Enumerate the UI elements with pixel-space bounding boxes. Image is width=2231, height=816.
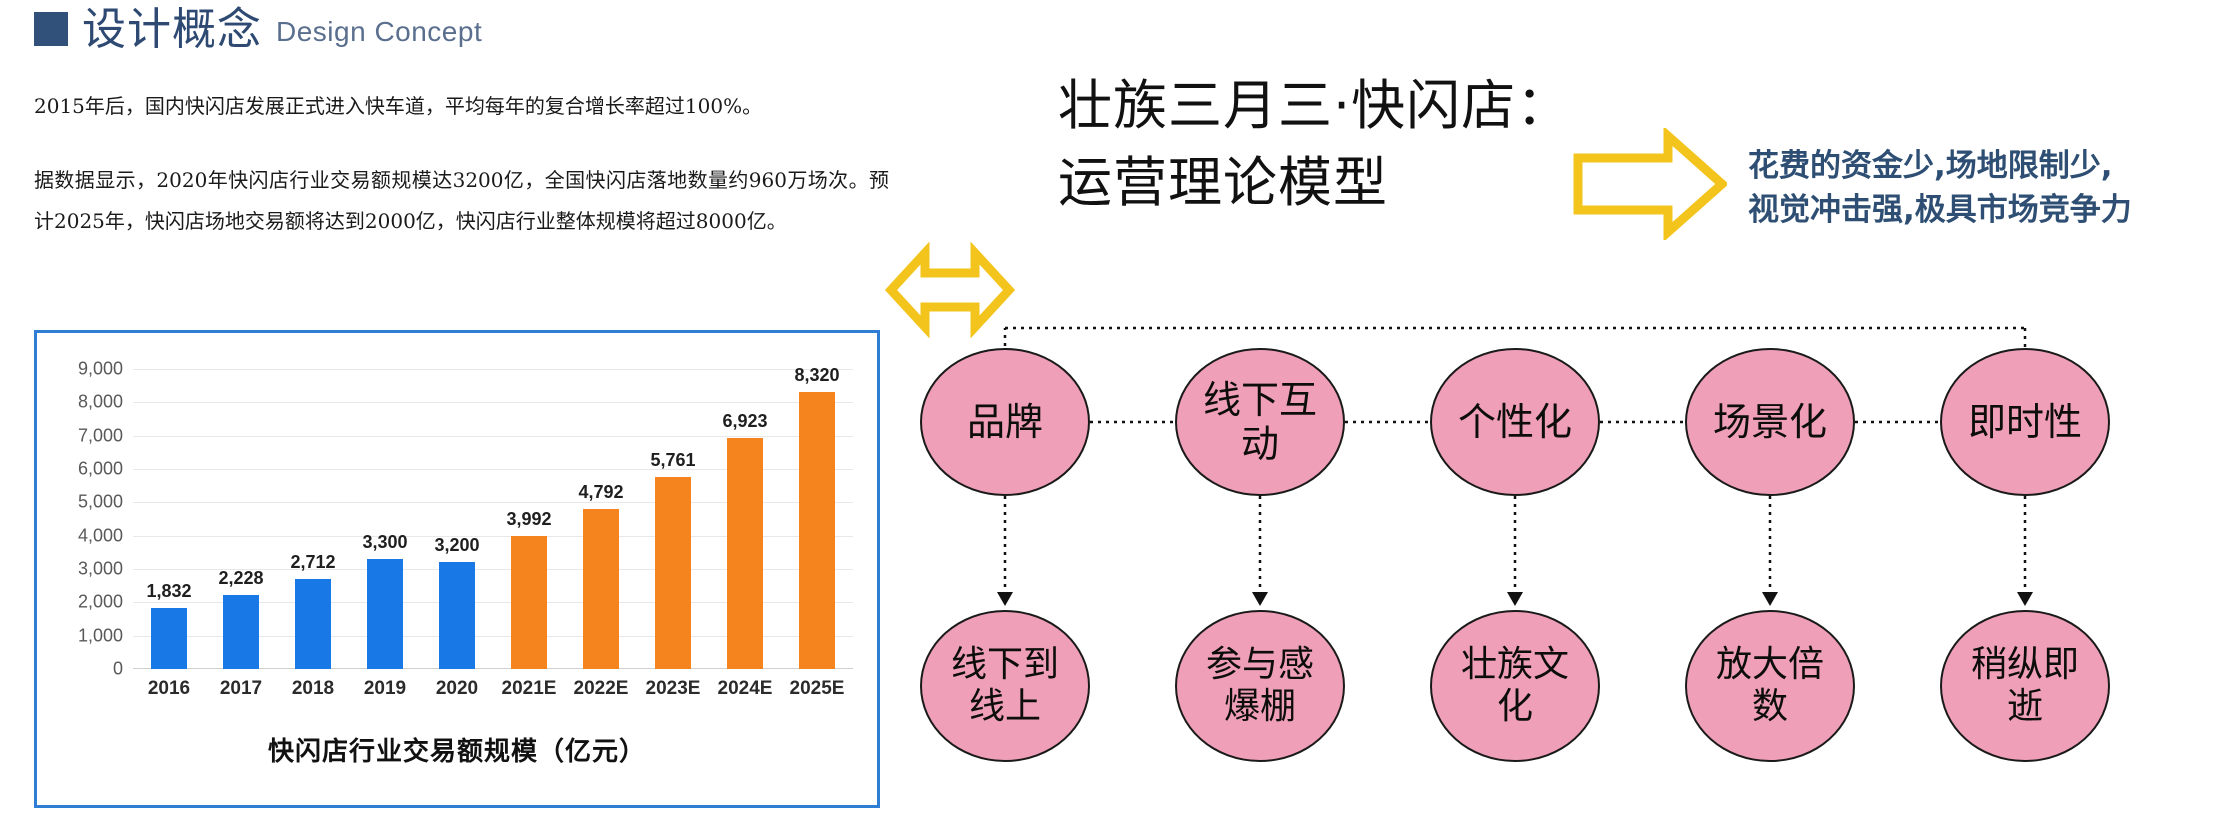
paragraph-two: 据数据显示，2020年快闪店行业交易额规模达3200亿，全国快闪店落地数量约96… — [34, 160, 889, 242]
page-title: 设计概念 — [82, 8, 262, 52]
chart-value-label: 2,712 — [290, 552, 335, 573]
diagram-node-bottom-1[interactable]: 线下到线上 — [920, 610, 1090, 762]
diagram-node-top-3[interactable]: 个性化 — [1430, 348, 1600, 496]
chart-y-tick-label: 5,000 — [78, 492, 123, 513]
chart-bar — [727, 438, 763, 669]
chart-value-label: 1,832 — [146, 581, 191, 602]
chart-value-label: 3,300 — [362, 532, 407, 553]
chart-bar-group: 3,300 — [349, 369, 421, 669]
diagram-node-top-4[interactable]: 场景化 — [1685, 348, 1855, 496]
node-label-line: 爆棚 — [1206, 686, 1314, 728]
node-label-line: 参与感 — [1206, 644, 1314, 686]
chart-y-tick-label: 1,000 — [78, 625, 123, 646]
chart-bar — [799, 392, 835, 669]
node-label: 线下互动 — [1203, 378, 1317, 466]
node-label-line: 即时性 — [1968, 400, 2082, 444]
chart-bar-group: 8,320 — [781, 369, 853, 669]
node-label-line: 逝 — [1971, 686, 2079, 728]
diagram-node-top-2[interactable]: 线下互动 — [1175, 348, 1345, 496]
chart-bar-group: 3,200 — [421, 369, 493, 669]
chart-x-tick-label: 2023E — [637, 678, 709, 700]
page-header: 设计概念 Design Concept — [34, 8, 482, 52]
chart-x-tick-label: 2018 — [277, 678, 349, 700]
chart-bar-group: 2,228 — [205, 369, 277, 669]
node-label-line: 壮族文 — [1461, 644, 1569, 686]
diagram-node-top-5[interactable]: 即时性 — [1940, 348, 2110, 496]
chart-y-tick-label: 7,000 — [78, 425, 123, 446]
benefits-note: 花费的资金少,场地限制少, 视觉冲击强,极具市场竞争力 — [1748, 144, 2132, 232]
arrowhead-icon — [1762, 592, 1778, 606]
node-label: 线下到线上 — [951, 644, 1059, 728]
right-arrow-icon — [1572, 128, 1727, 240]
diagram-node-bottom-3[interactable]: 壮族文化 — [1430, 610, 1600, 762]
operating-model-diagram: 品牌线下互动个性化场景化即时性 线下到线上参与感爆棚壮族文化放大倍数稍纵即逝 — [920, 320, 2231, 816]
diagram-node-top-1[interactable]: 品牌 — [920, 348, 1090, 496]
bar-chart-panel: 01,0002,0003,0004,0005,0006,0007,0008,00… — [34, 330, 880, 808]
arrowhead-icon — [2017, 592, 2033, 606]
chart-value-label: 2,228 — [218, 568, 263, 589]
chart-y-tick-label: 3,000 — [78, 559, 123, 580]
node-label: 参与感爆棚 — [1206, 644, 1314, 728]
chart-bar — [367, 559, 403, 669]
chart-bar-group: 5,761 — [637, 369, 709, 669]
paragraph-one: 2015年后，国内快闪店发展正式进入快车道，平均每年的复合增长率超过100%。 — [34, 86, 924, 127]
arrowhead-icon — [997, 592, 1013, 606]
chart-x-tick-label: 2016 — [133, 678, 205, 700]
chart-plot-area: 01,0002,0003,0004,0005,0006,0007,0008,00… — [133, 369, 853, 669]
chart-y-tick-label: 2,000 — [78, 592, 123, 613]
chart-value-label: 3,992 — [506, 509, 551, 530]
chart-y-tick-label: 6,000 — [78, 459, 123, 480]
node-label-line: 线下到 — [951, 644, 1059, 686]
model-heading: 壮族三月三·快闪店： 运营理论模型 — [1058, 68, 1571, 221]
node-label-line: 数 — [1716, 686, 1824, 728]
chart-title: 快闪店行业交易额规模（亿元） — [37, 731, 877, 768]
diagram-node-bottom-4[interactable]: 放大倍数 — [1685, 610, 1855, 762]
chart-x-tick-labels: 201620172018201920202021E2022E2023E2024E… — [133, 678, 853, 700]
chart-value-label: 8,320 — [794, 365, 839, 386]
node-label: 放大倍数 — [1716, 644, 1824, 728]
chart-value-label: 4,792 — [578, 482, 623, 503]
chart-x-tick-label: 2020 — [421, 678, 493, 700]
chart-x-tick-label: 2022E — [565, 678, 637, 700]
chart-x-tick-label: 2025E — [781, 678, 853, 700]
chart-bar-group: 6,923 — [709, 369, 781, 669]
chart-bar — [583, 509, 619, 669]
node-label-line: 线下互 — [1203, 378, 1317, 422]
square-marker-icon — [34, 12, 68, 46]
arrowhead-icon — [1507, 592, 1523, 606]
chart-bar — [655, 477, 691, 669]
diagram-node-bottom-5[interactable]: 稍纵即逝 — [1940, 610, 2110, 762]
arrowhead-icon — [1252, 592, 1268, 606]
node-label: 品牌 — [967, 400, 1043, 444]
chart-y-tick-label: 8,000 — [78, 392, 123, 413]
node-label-line: 放大倍 — [1716, 644, 1824, 686]
node-label: 壮族文化 — [1461, 644, 1569, 728]
node-label: 稍纵即逝 — [1971, 644, 2079, 728]
chart-bar — [223, 595, 259, 669]
diagram-node-bottom-2[interactable]: 参与感爆棚 — [1175, 610, 1345, 762]
chart-bar-group: 1,832 — [133, 369, 205, 669]
chart-x-tick-label: 2019 — [349, 678, 421, 700]
chart-bar — [439, 562, 475, 669]
slide-canvas: 设计概念 Design Concept 2015年后，国内快闪店发展正式进入快车… — [0, 0, 2231, 816]
chart-bars: 1,8322,2282,7123,3003,2003,9924,7925,761… — [133, 369, 853, 669]
chart-y-tick-label: 0 — [113, 659, 123, 680]
chart-bar-group: 4,792 — [565, 369, 637, 669]
page-subtitle: Design Concept — [276, 16, 482, 48]
chart-y-tick-label: 9,000 — [78, 359, 123, 380]
chart-bar — [151, 608, 187, 669]
chart-bar-group: 3,992 — [493, 369, 565, 669]
chart-value-label: 5,761 — [650, 450, 695, 471]
node-label: 场景化 — [1713, 400, 1827, 444]
chart-value-label: 3,200 — [434, 535, 479, 556]
chart-value-label: 6,923 — [722, 411, 767, 432]
chart-bar — [295, 579, 331, 669]
chart-bar-group: 2,712 — [277, 369, 349, 669]
node-label-line: 线上 — [951, 686, 1059, 728]
node-label: 即时性 — [1968, 400, 2082, 444]
chart-x-tick-label: 2024E — [709, 678, 781, 700]
chart-y-tick-label: 4,000 — [78, 525, 123, 546]
node-label-line: 稍纵即 — [1971, 644, 2079, 686]
node-label-line: 场景化 — [1713, 400, 1827, 444]
node-label-line: 个性化 — [1458, 400, 1572, 444]
node-label-line: 化 — [1461, 686, 1569, 728]
node-label: 个性化 — [1458, 400, 1572, 444]
chart-x-tick-label: 2017 — [205, 678, 277, 700]
node-label-line: 品牌 — [967, 400, 1043, 444]
chart-bar — [511, 536, 547, 669]
chart-x-tick-label: 2021E — [493, 678, 565, 700]
node-label-line: 动 — [1203, 422, 1317, 466]
